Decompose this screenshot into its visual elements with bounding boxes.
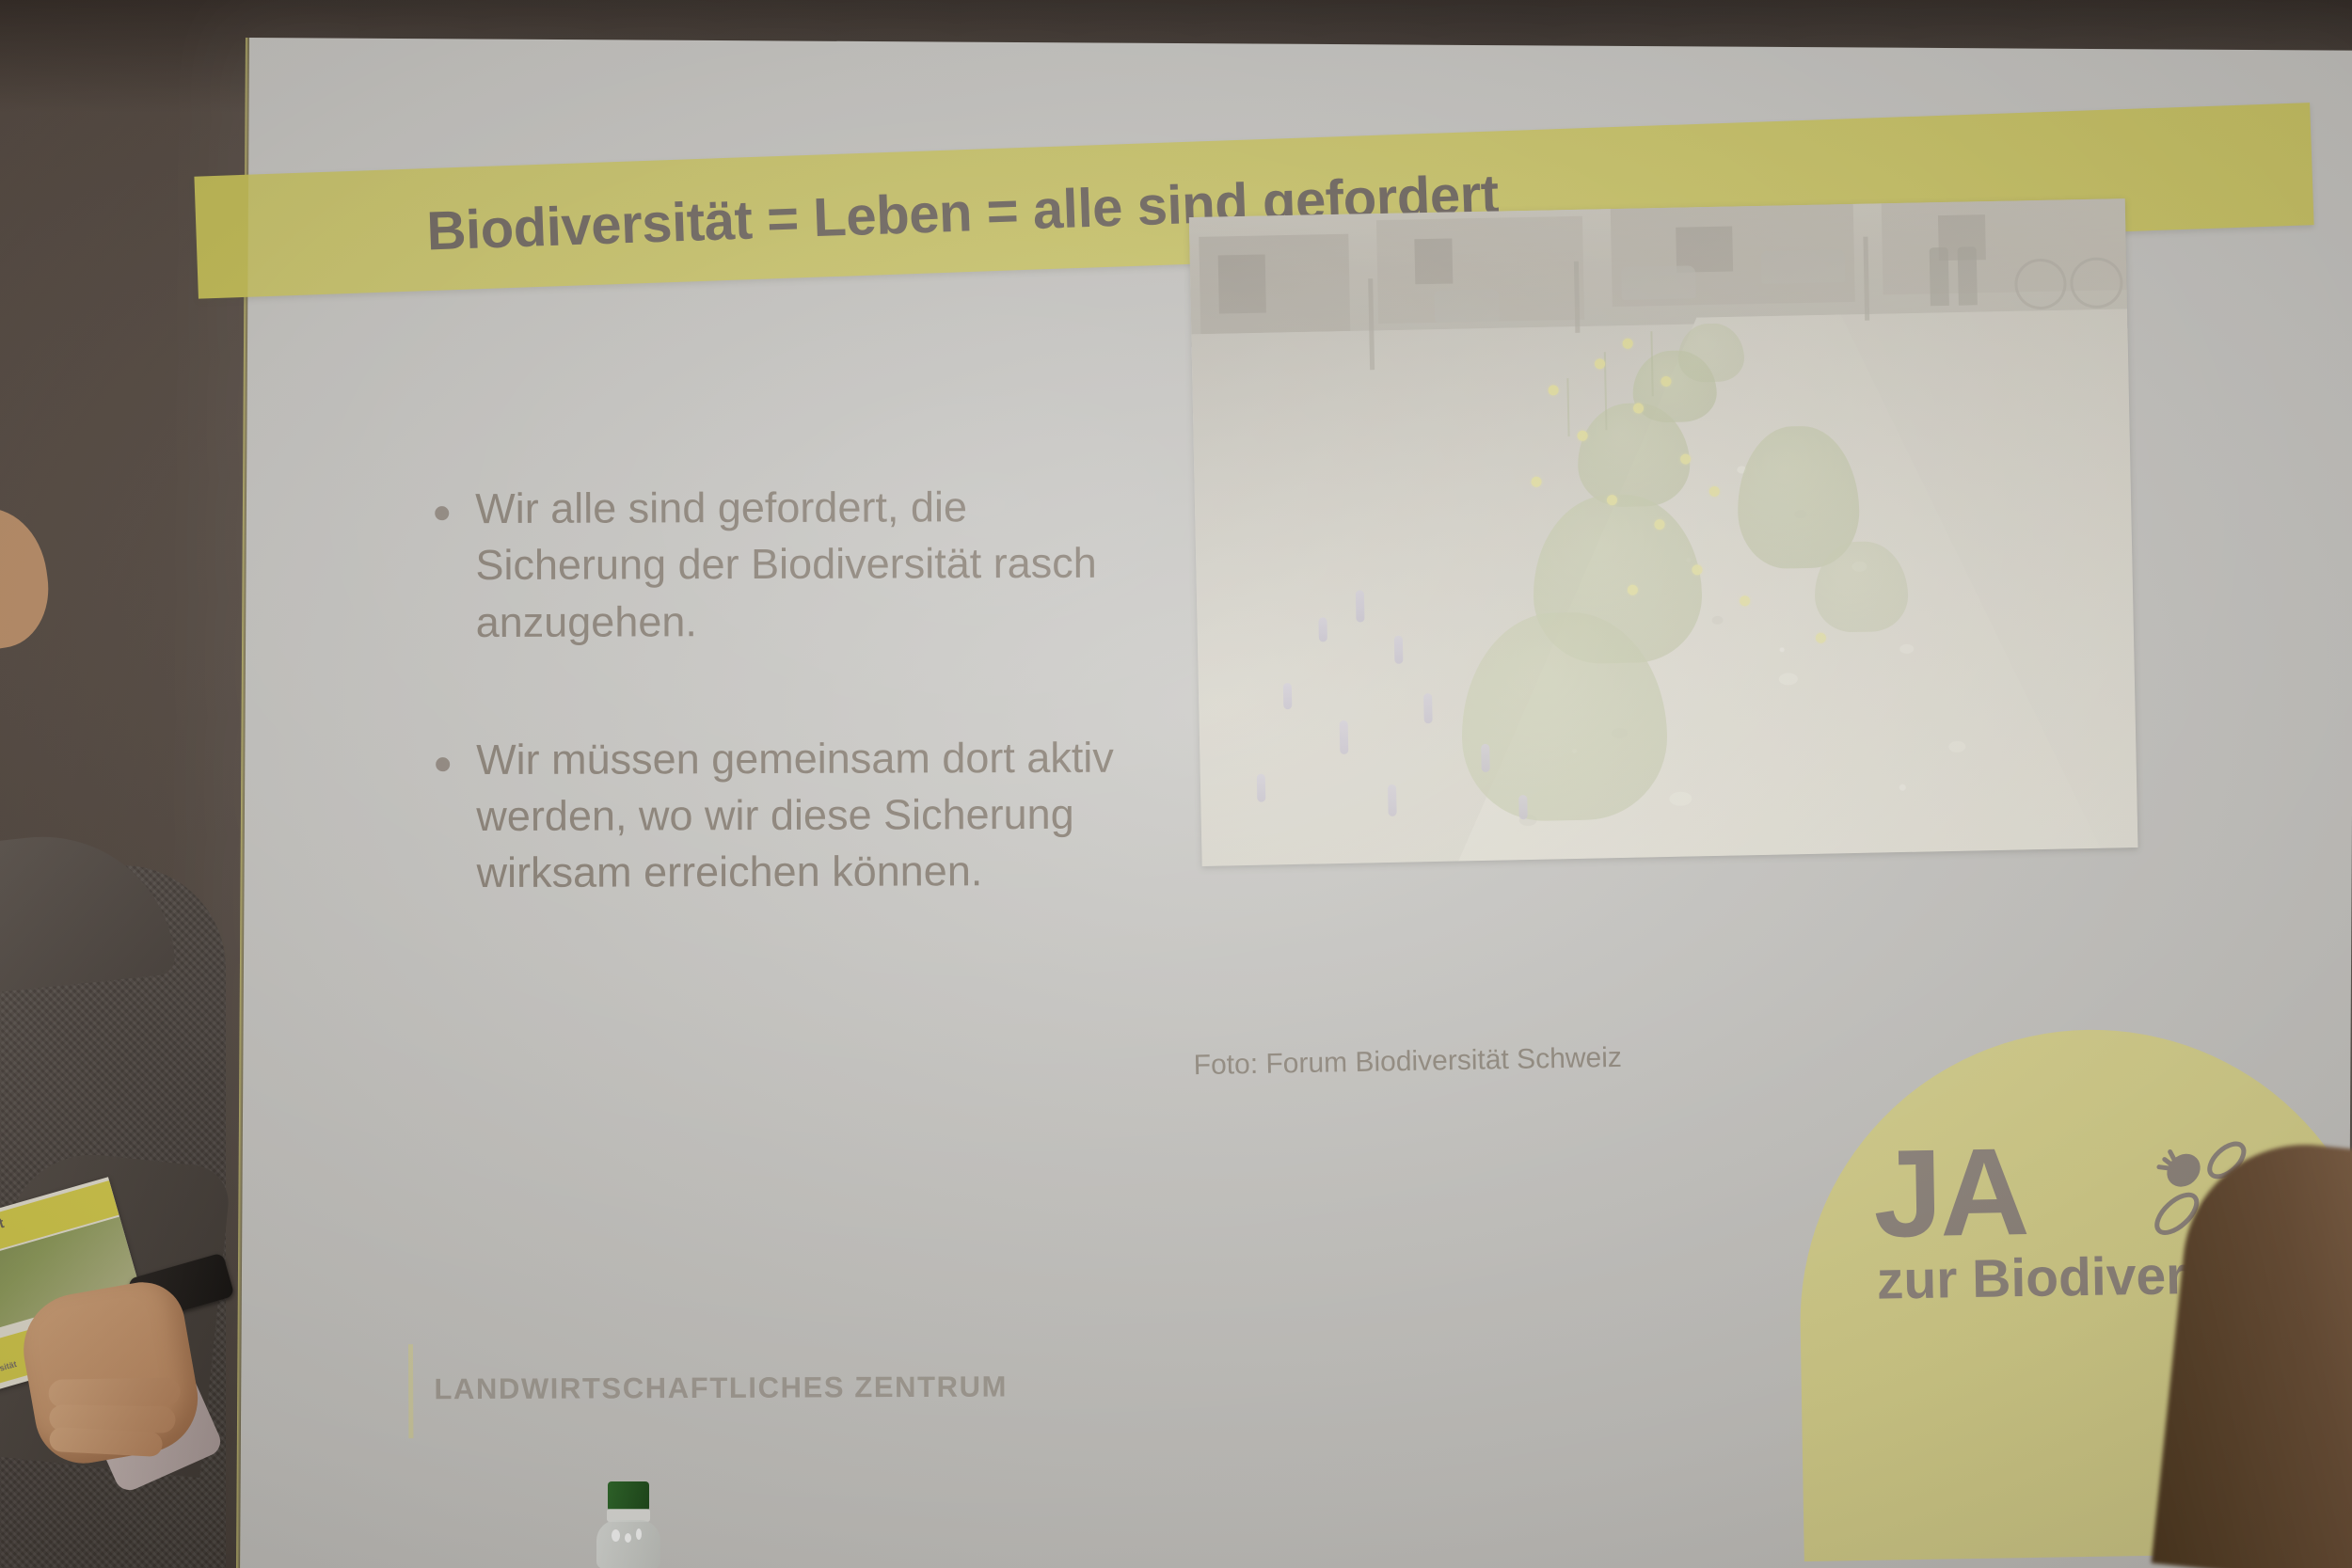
projection-screen: Biodiversität = Leben = alle sind geford… [240,38,2352,1568]
presentation-slide: Biodiversität = Leben = alle sind geford… [240,38,2352,1568]
slide-footer: LANDWIRTSCHAFTLICHES ZENTRUM [434,1370,1008,1407]
bullet-list: Wir alle sind gefordert, die Sicherung d… [435,479,1152,983]
flyer-logo-tagline: zur Biodiversität [0,1359,18,1386]
screenshot-stage: Biodiversität = Leben = alle sind geford… [0,0,2352,1568]
photo-caption: Foto: Forum Biodiversität Schweiz [1193,1037,1852,1082]
presenter-shoulder [0,824,177,1001]
bullet-dot-icon [436,757,450,771]
slide-photo [1189,198,2138,866]
photo-canvas [1189,198,2138,866]
water-bottle [595,1481,662,1568]
photo-projector-haze [1189,198,2138,866]
logo-word: JA [1872,1130,2027,1257]
bullet-text: Wir alle sind gefordert, die Sicherung d… [475,479,1151,651]
bottle-cap [608,1481,649,1510]
footer-accent-tick [408,1344,413,1438]
bullet-text: Wir müssen gemeinsam dort aktiv werden, … [476,729,1152,901]
bullet-dot-icon [435,506,449,520]
list-item: Wir müssen gemeinsam dort aktiv werden, … [436,729,1152,902]
presenter: sind gefordert JA zur Biodiversität [0,752,282,1568]
bottle-body [596,1520,660,1568]
list-item: Wir alle sind gefordert, die Sicherung d… [435,479,1151,652]
